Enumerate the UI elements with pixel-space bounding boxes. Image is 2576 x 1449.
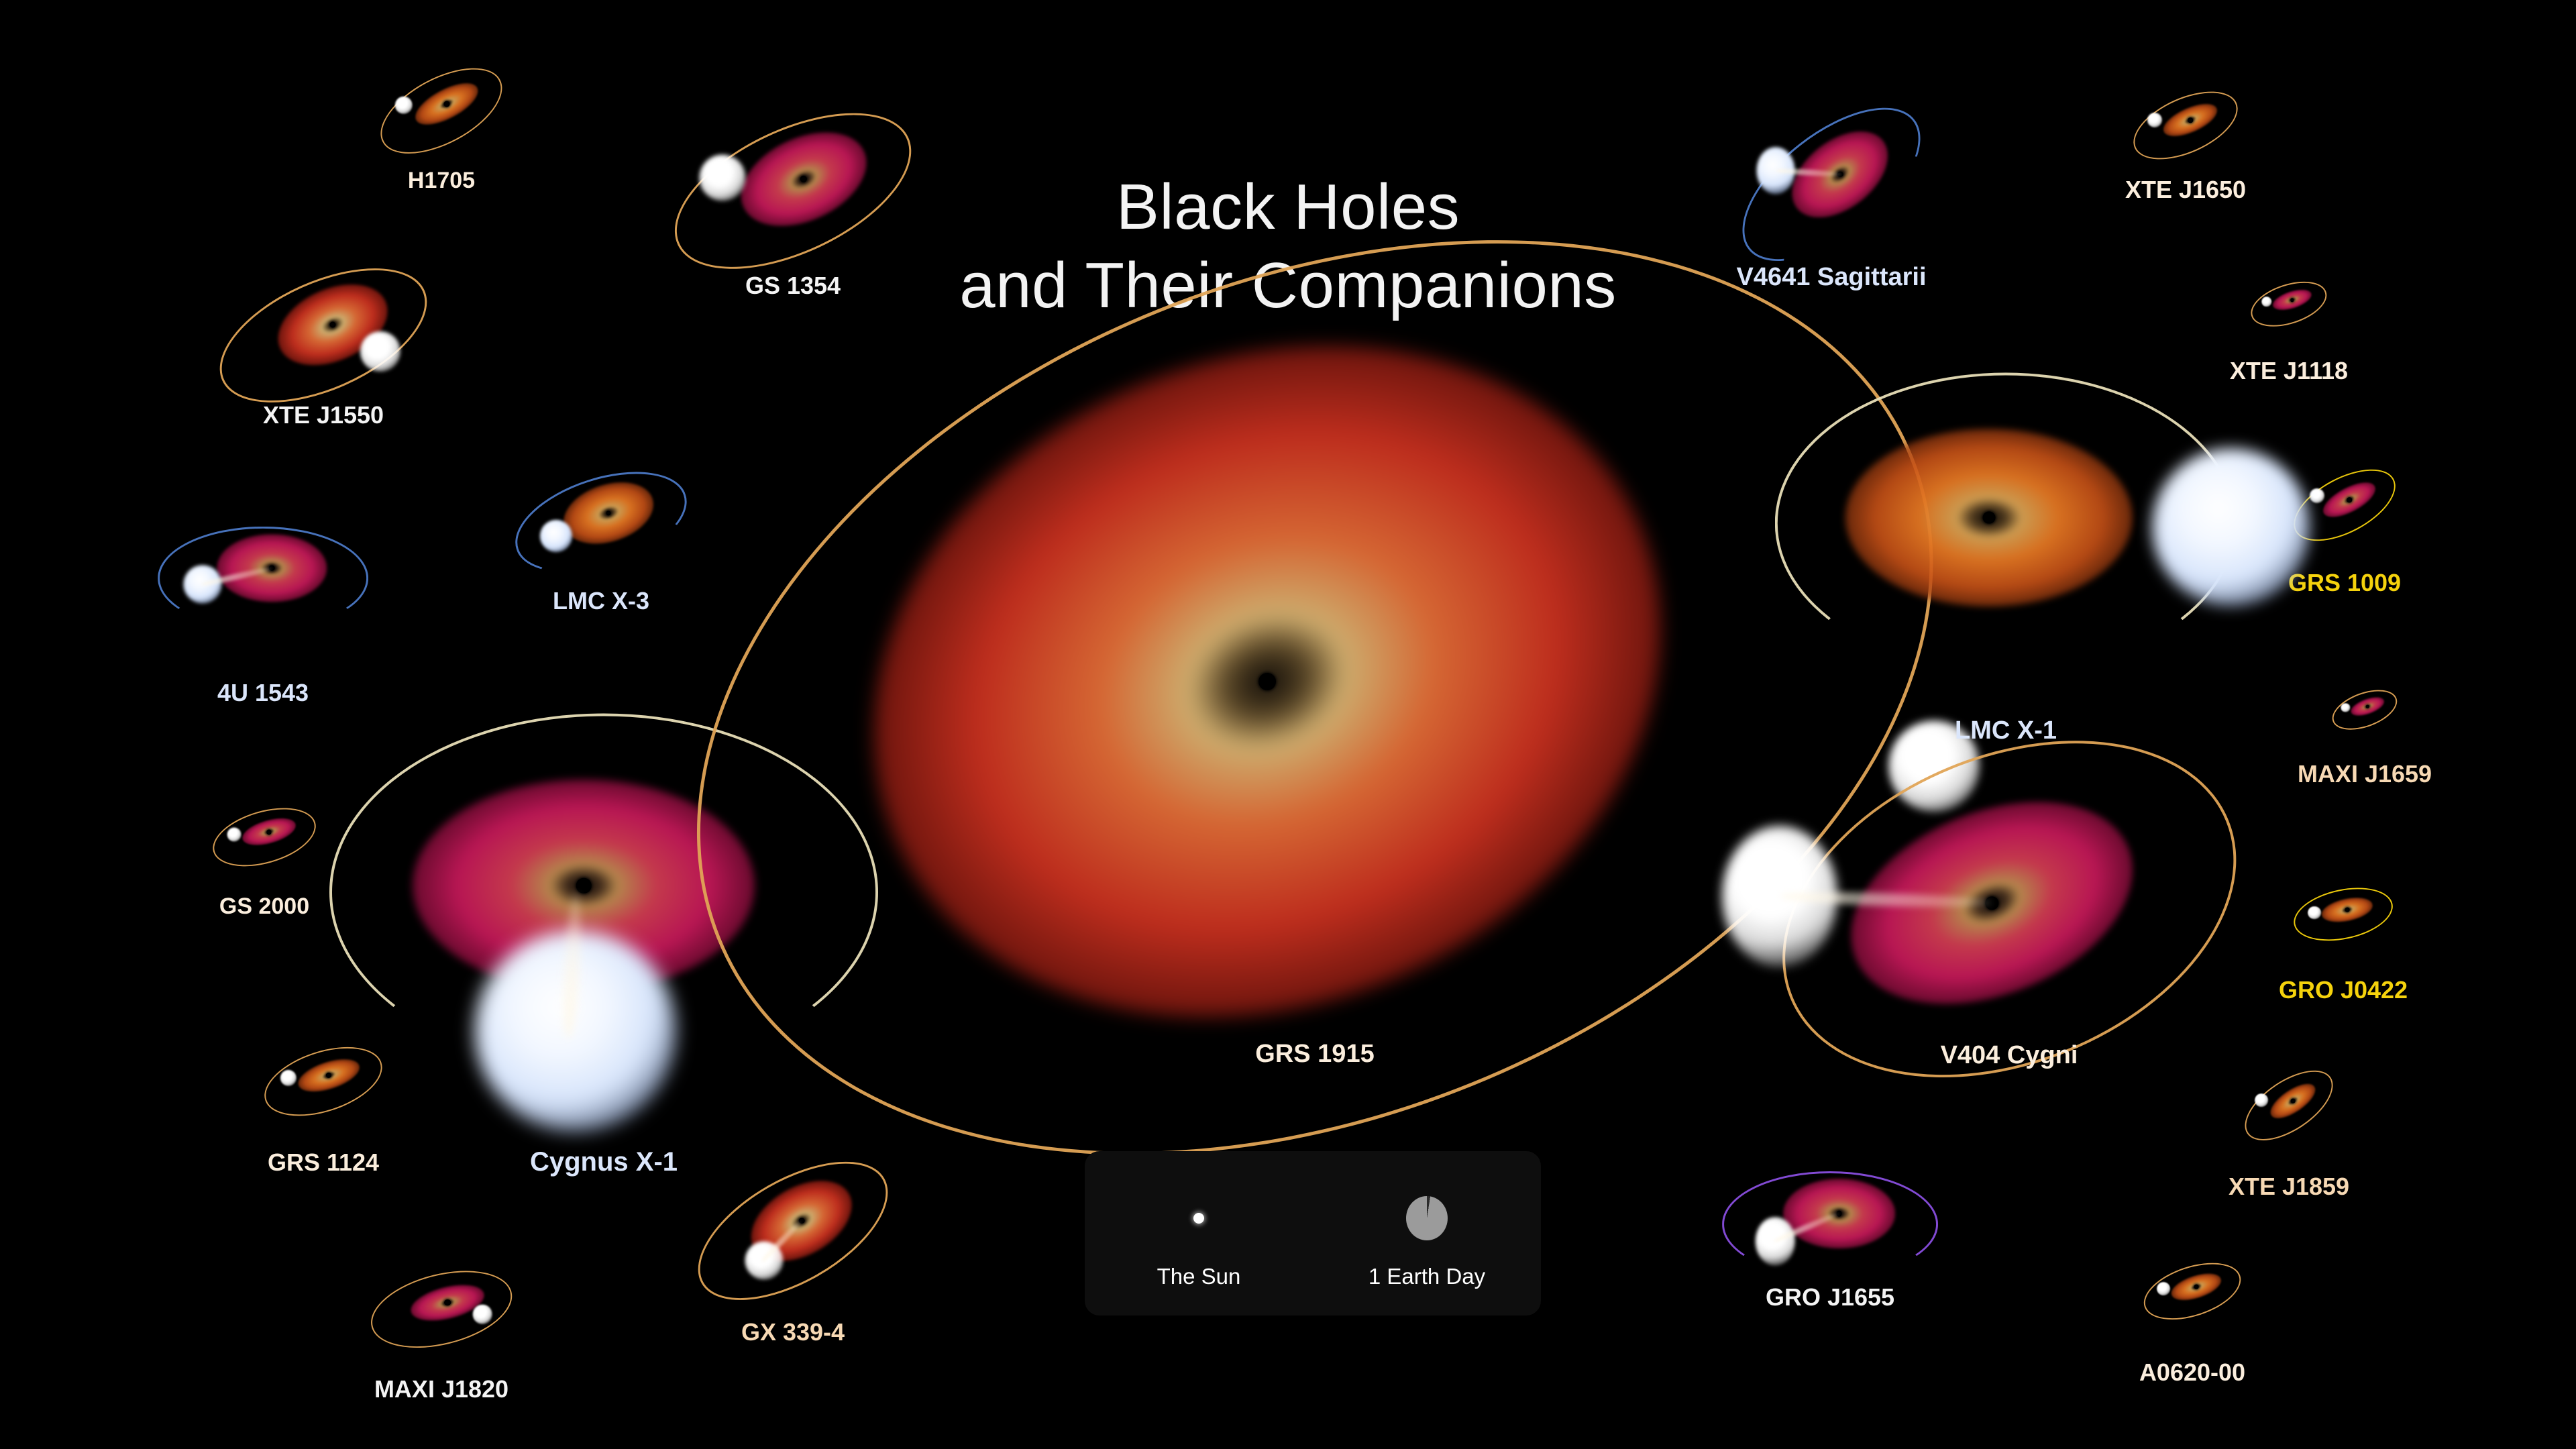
companion-star-a0620-00: [2157, 1282, 2170, 1295]
legend-label-the-sun: The Sun: [1157, 1264, 1241, 1289]
system-label-xte-j1650: XTE J1650: [2125, 176, 2246, 204]
black-hole-maxi-j1820: [444, 1299, 451, 1306]
black-hole-a0620-00: [2194, 1284, 2199, 1289]
system-maxi-j1820: MAXI J1820: [354, 1222, 529, 1397]
system-gro-j0422: GRO J0422: [2283, 854, 2404, 975]
system-label-xte-j1550: XTE J1550: [263, 401, 384, 429]
system-art-maxi-j1820: [354, 1222, 529, 1397]
system-art-gro-j0422: [2283, 854, 2404, 975]
system-label-maxi-j1820: MAXI J1820: [374, 1375, 508, 1403]
companion-star-lmc-x-1: [2152, 449, 2310, 606]
companion-star-gro-j0422: [2308, 906, 2321, 920]
system-maxi-j1659: MAXI J1659: [2324, 669, 2405, 750]
companion-star-maxi-j1820: [473, 1305, 492, 1324]
black-hole-grs-1009: [2347, 497, 2352, 502]
companion-star-grs-1009: [2310, 488, 2324, 503]
companion-star-xte-j1859: [2255, 1093, 2268, 1107]
legend-item-one-earth-day: 1 Earth Day: [1313, 1151, 1541, 1316]
system-grs-1124: GRS 1124: [250, 1008, 397, 1155]
system-label-a0620-00: A0620-00: [2139, 1358, 2245, 1387]
black-hole-h1705: [444, 101, 450, 107]
system-label-grs-1124: GRS 1124: [268, 1148, 379, 1177]
legend-label-one-earth-day: 1 Earth Day: [1368, 1264, 1485, 1289]
scale-legend: The Sun 1 Earth Day: [1085, 1151, 1541, 1316]
system-art-xte-j1859: [2229, 1045, 2349, 1166]
black-hole-xte-j1859: [2291, 1098, 2296, 1103]
black-hole-xte-j1550: [330, 322, 336, 328]
system-label-gro-j1655: GRO J1655: [1766, 1283, 1894, 1311]
system-art-grs-1124: [250, 1008, 397, 1155]
system-art-a0620-00: [2132, 1231, 2253, 1352]
system-art-xte-j1550: [189, 201, 458, 470]
black-hole-gro-j0422: [2345, 907, 2350, 912]
black-hole-xte-j1650: [2188, 117, 2193, 123]
companion-star-xte-j1650: [2147, 113, 2162, 127]
infographic-canvas: Black Holes and Their Companions H1705GS…: [0, 0, 2576, 1449]
system-a0620-00: A0620-00: [2132, 1231, 2253, 1352]
system-gro-j1655: GRO J1655: [1699, 1093, 1961, 1355]
clock-pie-icon: [1406, 1196, 1448, 1240]
system-label-grs-1009: GRS 1009: [2288, 569, 2401, 597]
system-label-gro-j0422: GRO J0422: [2279, 976, 2408, 1004]
black-hole-lmc-x-1: [1982, 511, 1995, 524]
system-h1705: H1705: [361, 30, 522, 191]
system-art-xte-j1650: [2118, 58, 2253, 193]
sun-dot-icon: [1193, 1213, 1204, 1224]
system-label-h1705: H1705: [408, 168, 475, 194]
legend-item-the-sun: The Sun: [1085, 1151, 1313, 1316]
system-art-h1705: [361, 30, 522, 191]
system-label-grs-1915: GRS 1915: [1255, 1040, 1374, 1069]
system-xte-j1859: XTE J1859: [2229, 1045, 2349, 1166]
system-label-v404-cygni: V404 Cygni: [1941, 1041, 2078, 1070]
system-label-xte-j1859: XTE J1859: [2229, 1173, 2349, 1201]
black-hole-grs-1915: [1258, 673, 1276, 690]
system-art-maxi-j1659: [2324, 669, 2405, 750]
system-label-maxi-j1659: MAXI J1659: [2298, 760, 2432, 788]
system-xte-j1650: XTE J1650: [2118, 58, 2253, 193]
system-art-gro-j1655: [1699, 1093, 1961, 1355]
companion-star-xte-j1550: [360, 331, 400, 372]
companion-star-gs-2000: [227, 827, 241, 841]
black-hole-maxi-j1659: [2366, 705, 2369, 708]
system-xte-j1550: XTE J1550: [189, 201, 458, 470]
